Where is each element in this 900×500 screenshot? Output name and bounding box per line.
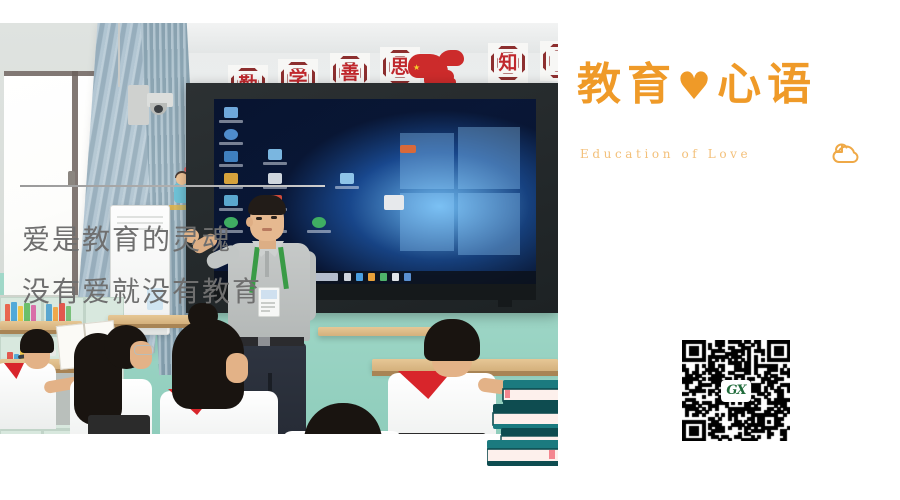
poster-subtitle-english: Education of Love	[580, 147, 751, 161]
title-text-tail: 心语	[717, 59, 817, 110]
divider-rule	[20, 185, 325, 187]
security-camera-icon	[154, 105, 163, 113]
student-desk-5	[318, 327, 438, 336]
teacher-belt	[236, 337, 304, 346]
wall-frame-partial	[540, 41, 558, 81]
poster-quote: 爱是教育的灵魂 没有爱就没有教育	[22, 214, 332, 318]
heart-icon: ♥	[677, 63, 717, 108]
camera-mount	[128, 85, 149, 125]
poster-canvas: 勤 学 善 思 知 ★	[0, 0, 900, 500]
qr-code[interactable]: GX	[682, 340, 790, 441]
quote-line-1: 爱是教育的灵魂	[22, 214, 332, 266]
camera-wire	[118, 23, 120, 87]
quote-line-2: 没有爱就没有教育	[22, 266, 332, 318]
teacher-hair	[248, 195, 286, 215]
qr-center-logo: GX	[721, 380, 751, 402]
cloud-icon	[826, 138, 864, 170]
window-frame-horizontal	[4, 71, 98, 76]
wall-frame-zhi: 知	[488, 43, 528, 83]
poster-title: 教育♥心语	[577, 56, 887, 114]
whiteboard-mount-right	[498, 300, 512, 307]
title-text-main: 教育	[577, 59, 677, 110]
